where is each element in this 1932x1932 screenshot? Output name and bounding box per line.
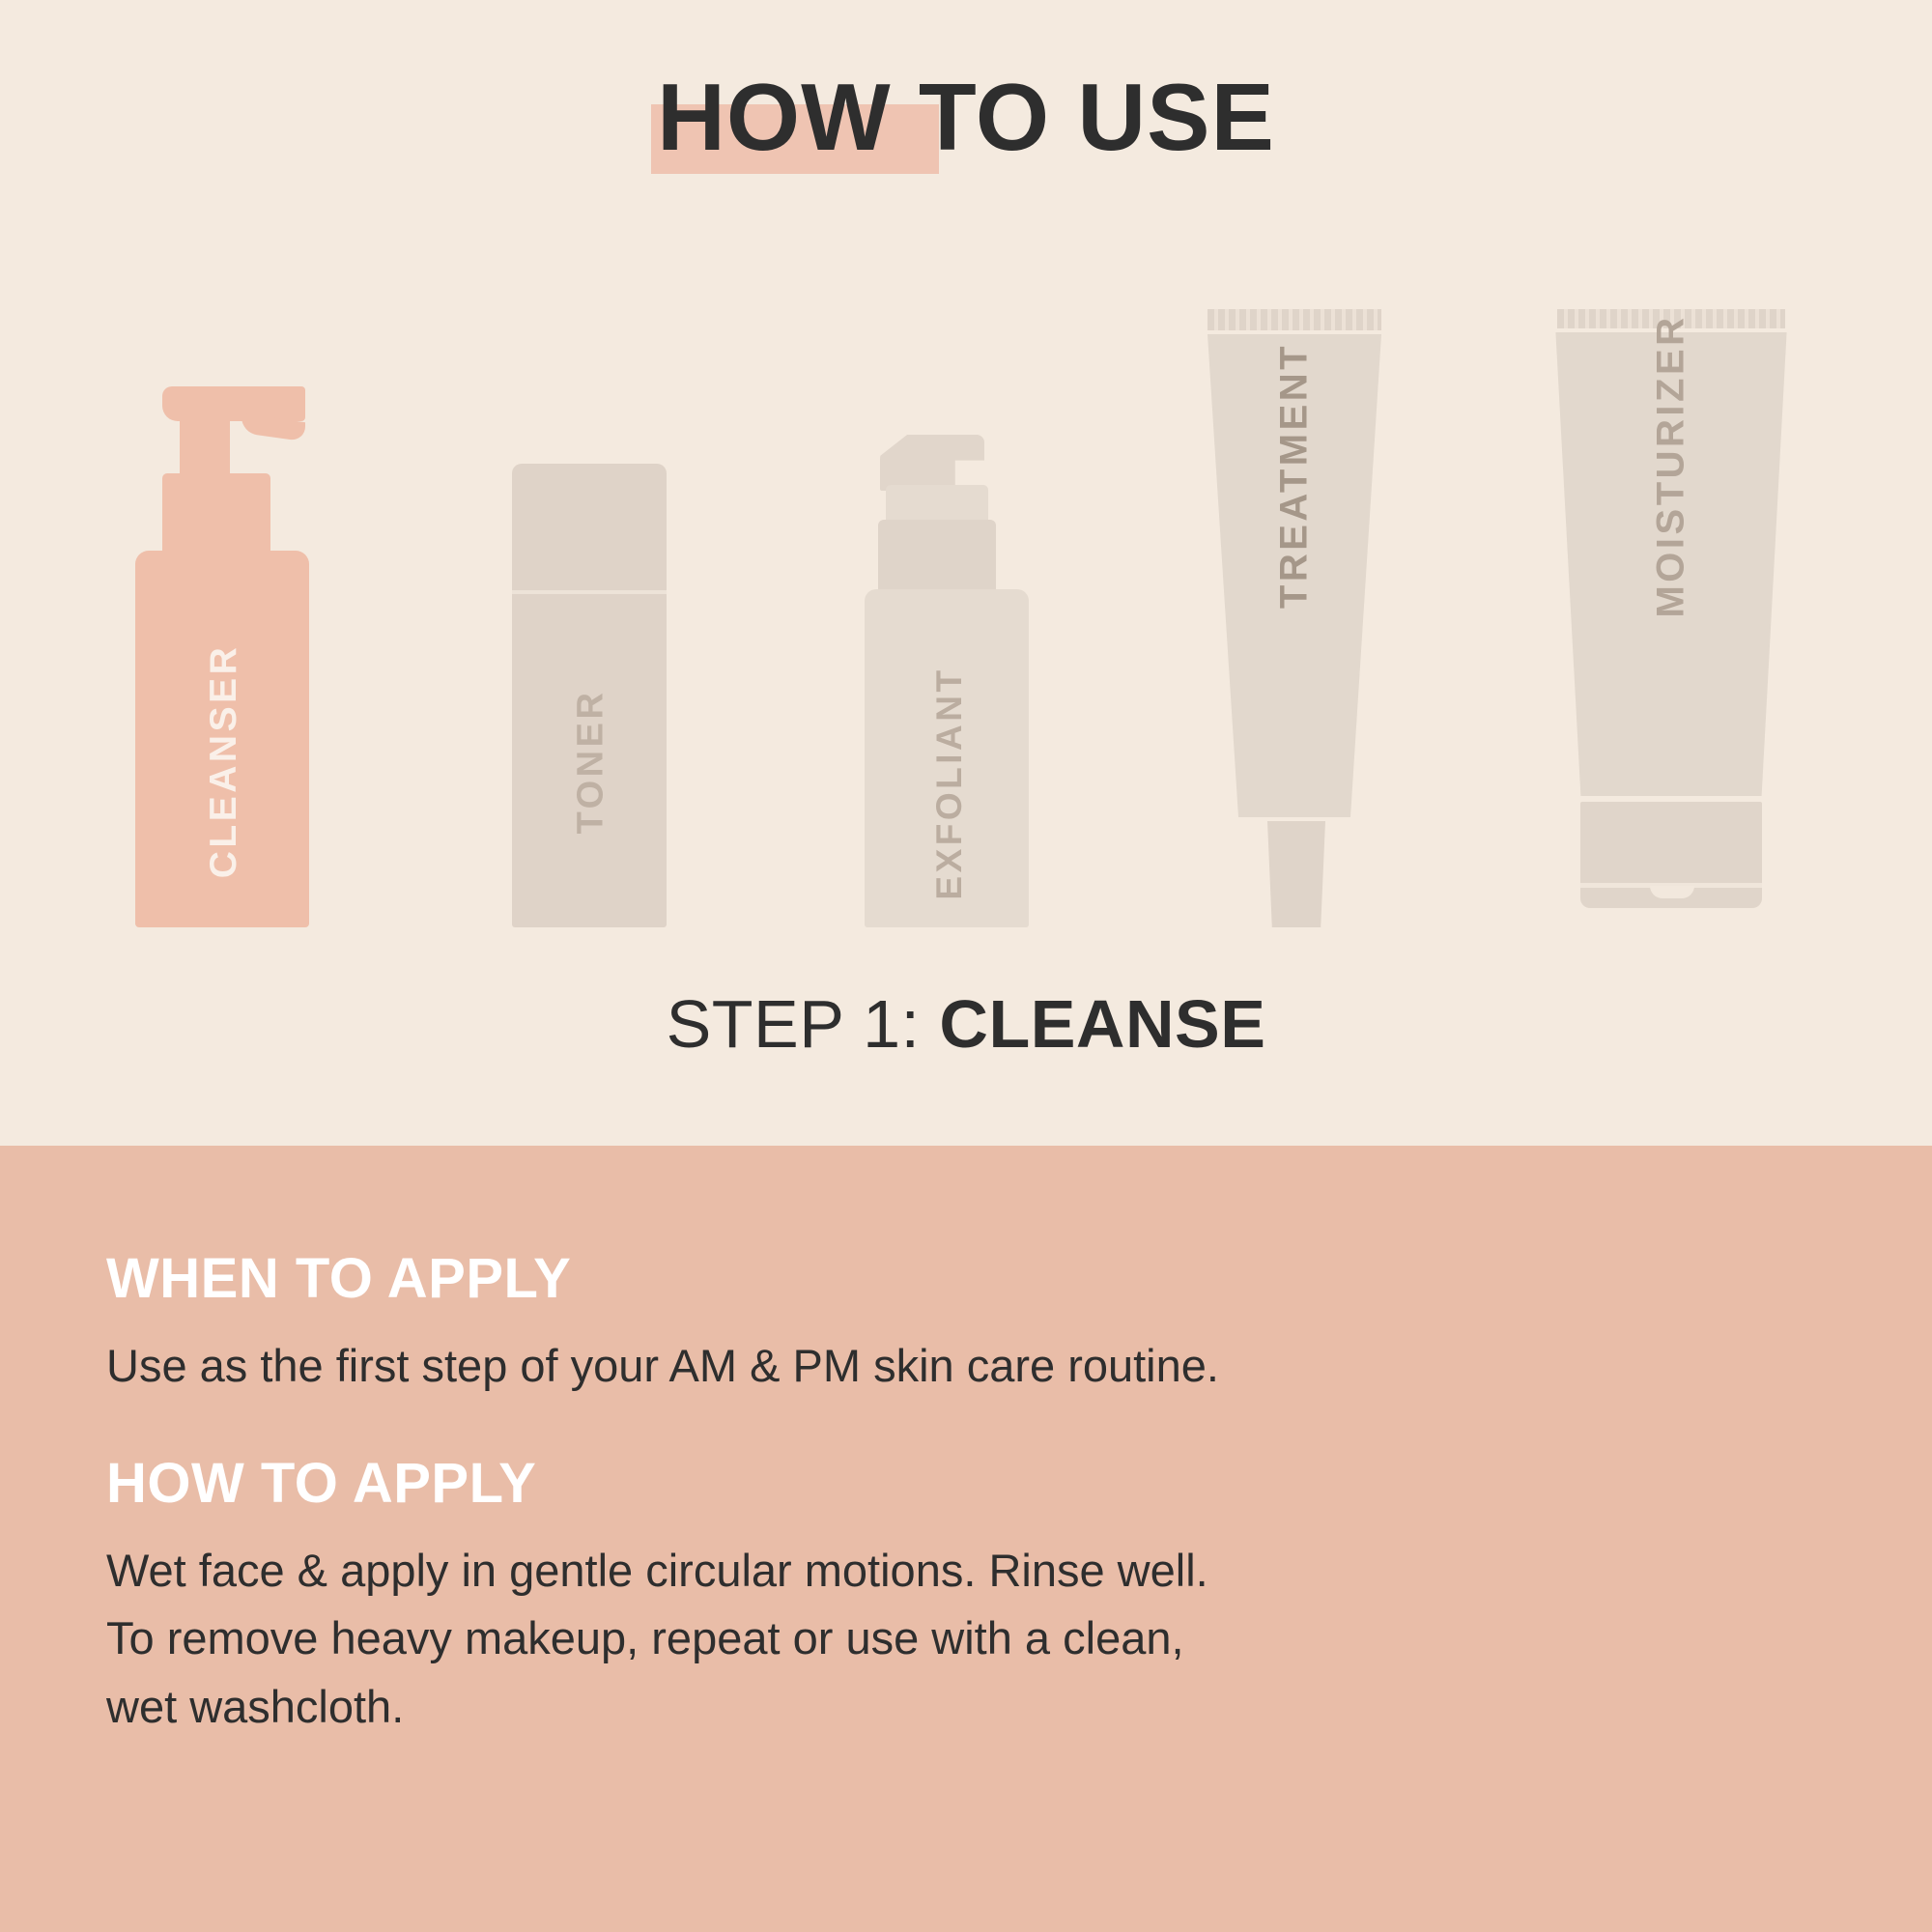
page-title: HOW TO USE [0, 68, 1932, 167]
product-label-moisturizer: MOISTURIZER [1650, 314, 1693, 617]
body-line: Use as the first step of your AM & PM sk… [106, 1332, 1690, 1401]
product-label-cleanser: CLEANSER [203, 644, 245, 879]
step-prefix: STEP 1: [667, 986, 940, 1062]
pump-stem-icon [180, 408, 230, 481]
top-cream-section: HOW TO USE CLEANSER TONER [0, 0, 1932, 1146]
when-to-apply-block: WHEN TO APPLY Use as the first step of y… [106, 1246, 1826, 1401]
pump-collar-icon [162, 473, 270, 556]
infographic-page: HOW TO USE CLEANSER TONER [0, 0, 1932, 1932]
product-cleanser[interactable]: CLEANSER [135, 444, 328, 927]
body-line: To remove heavy makeup, repeat or use wi… [106, 1605, 1690, 1673]
title-text: HOW TO USE [657, 68, 1275, 167]
product-row: CLEANSER TONER EXFOLIANT TREA [0, 222, 1932, 927]
title-highlight-word: HOW [657, 64, 892, 170]
product-label-exfoliant: EXFOLIANT [929, 667, 970, 899]
product-toner[interactable]: TONER [512, 464, 676, 927]
tube-cap [1267, 821, 1325, 927]
how-to-apply-block: HOW TO APPLY Wet face & apply in gentle … [106, 1451, 1826, 1742]
product-moisturizer[interactable]: MOISTURIZER [1546, 309, 1797, 927]
pump-nozzle-icon [880, 435, 984, 491]
product-exfoliant[interactable]: EXFOLIANT [865, 454, 1048, 927]
product-treatment[interactable]: TREATMENT [1198, 309, 1391, 927]
body-line: wet washcloth. [106, 1673, 1690, 1742]
flip-cap-notch [1650, 886, 1694, 898]
cap-seam-line [512, 590, 667, 594]
title-rest: TO USE [892, 64, 1275, 170]
body-line: Wet face & apply in gentle circular moti… [106, 1537, 1690, 1605]
step-caption: STEP 1: CLEANSE [0, 985, 1932, 1063]
bottom-pink-section: WHEN TO APPLY Use as the first step of y… [0, 1146, 1932, 1932]
when-to-apply-heading: WHEN TO APPLY [106, 1246, 1826, 1311]
how-to-apply-heading: HOW TO APPLY [106, 1451, 1826, 1516]
when-to-apply-body: Use as the first step of your AM & PM sk… [106, 1332, 1690, 1401]
pump-neck-lower [878, 520, 996, 595]
tube-crimp-edge [1207, 309, 1381, 330]
product-label-treatment: TREATMENT [1273, 343, 1317, 609]
product-label-toner: TONER [571, 690, 612, 835]
step-name: CLEANSE [939, 986, 1265, 1062]
how-to-apply-body: Wet face & apply in gentle circular moti… [106, 1537, 1690, 1742]
